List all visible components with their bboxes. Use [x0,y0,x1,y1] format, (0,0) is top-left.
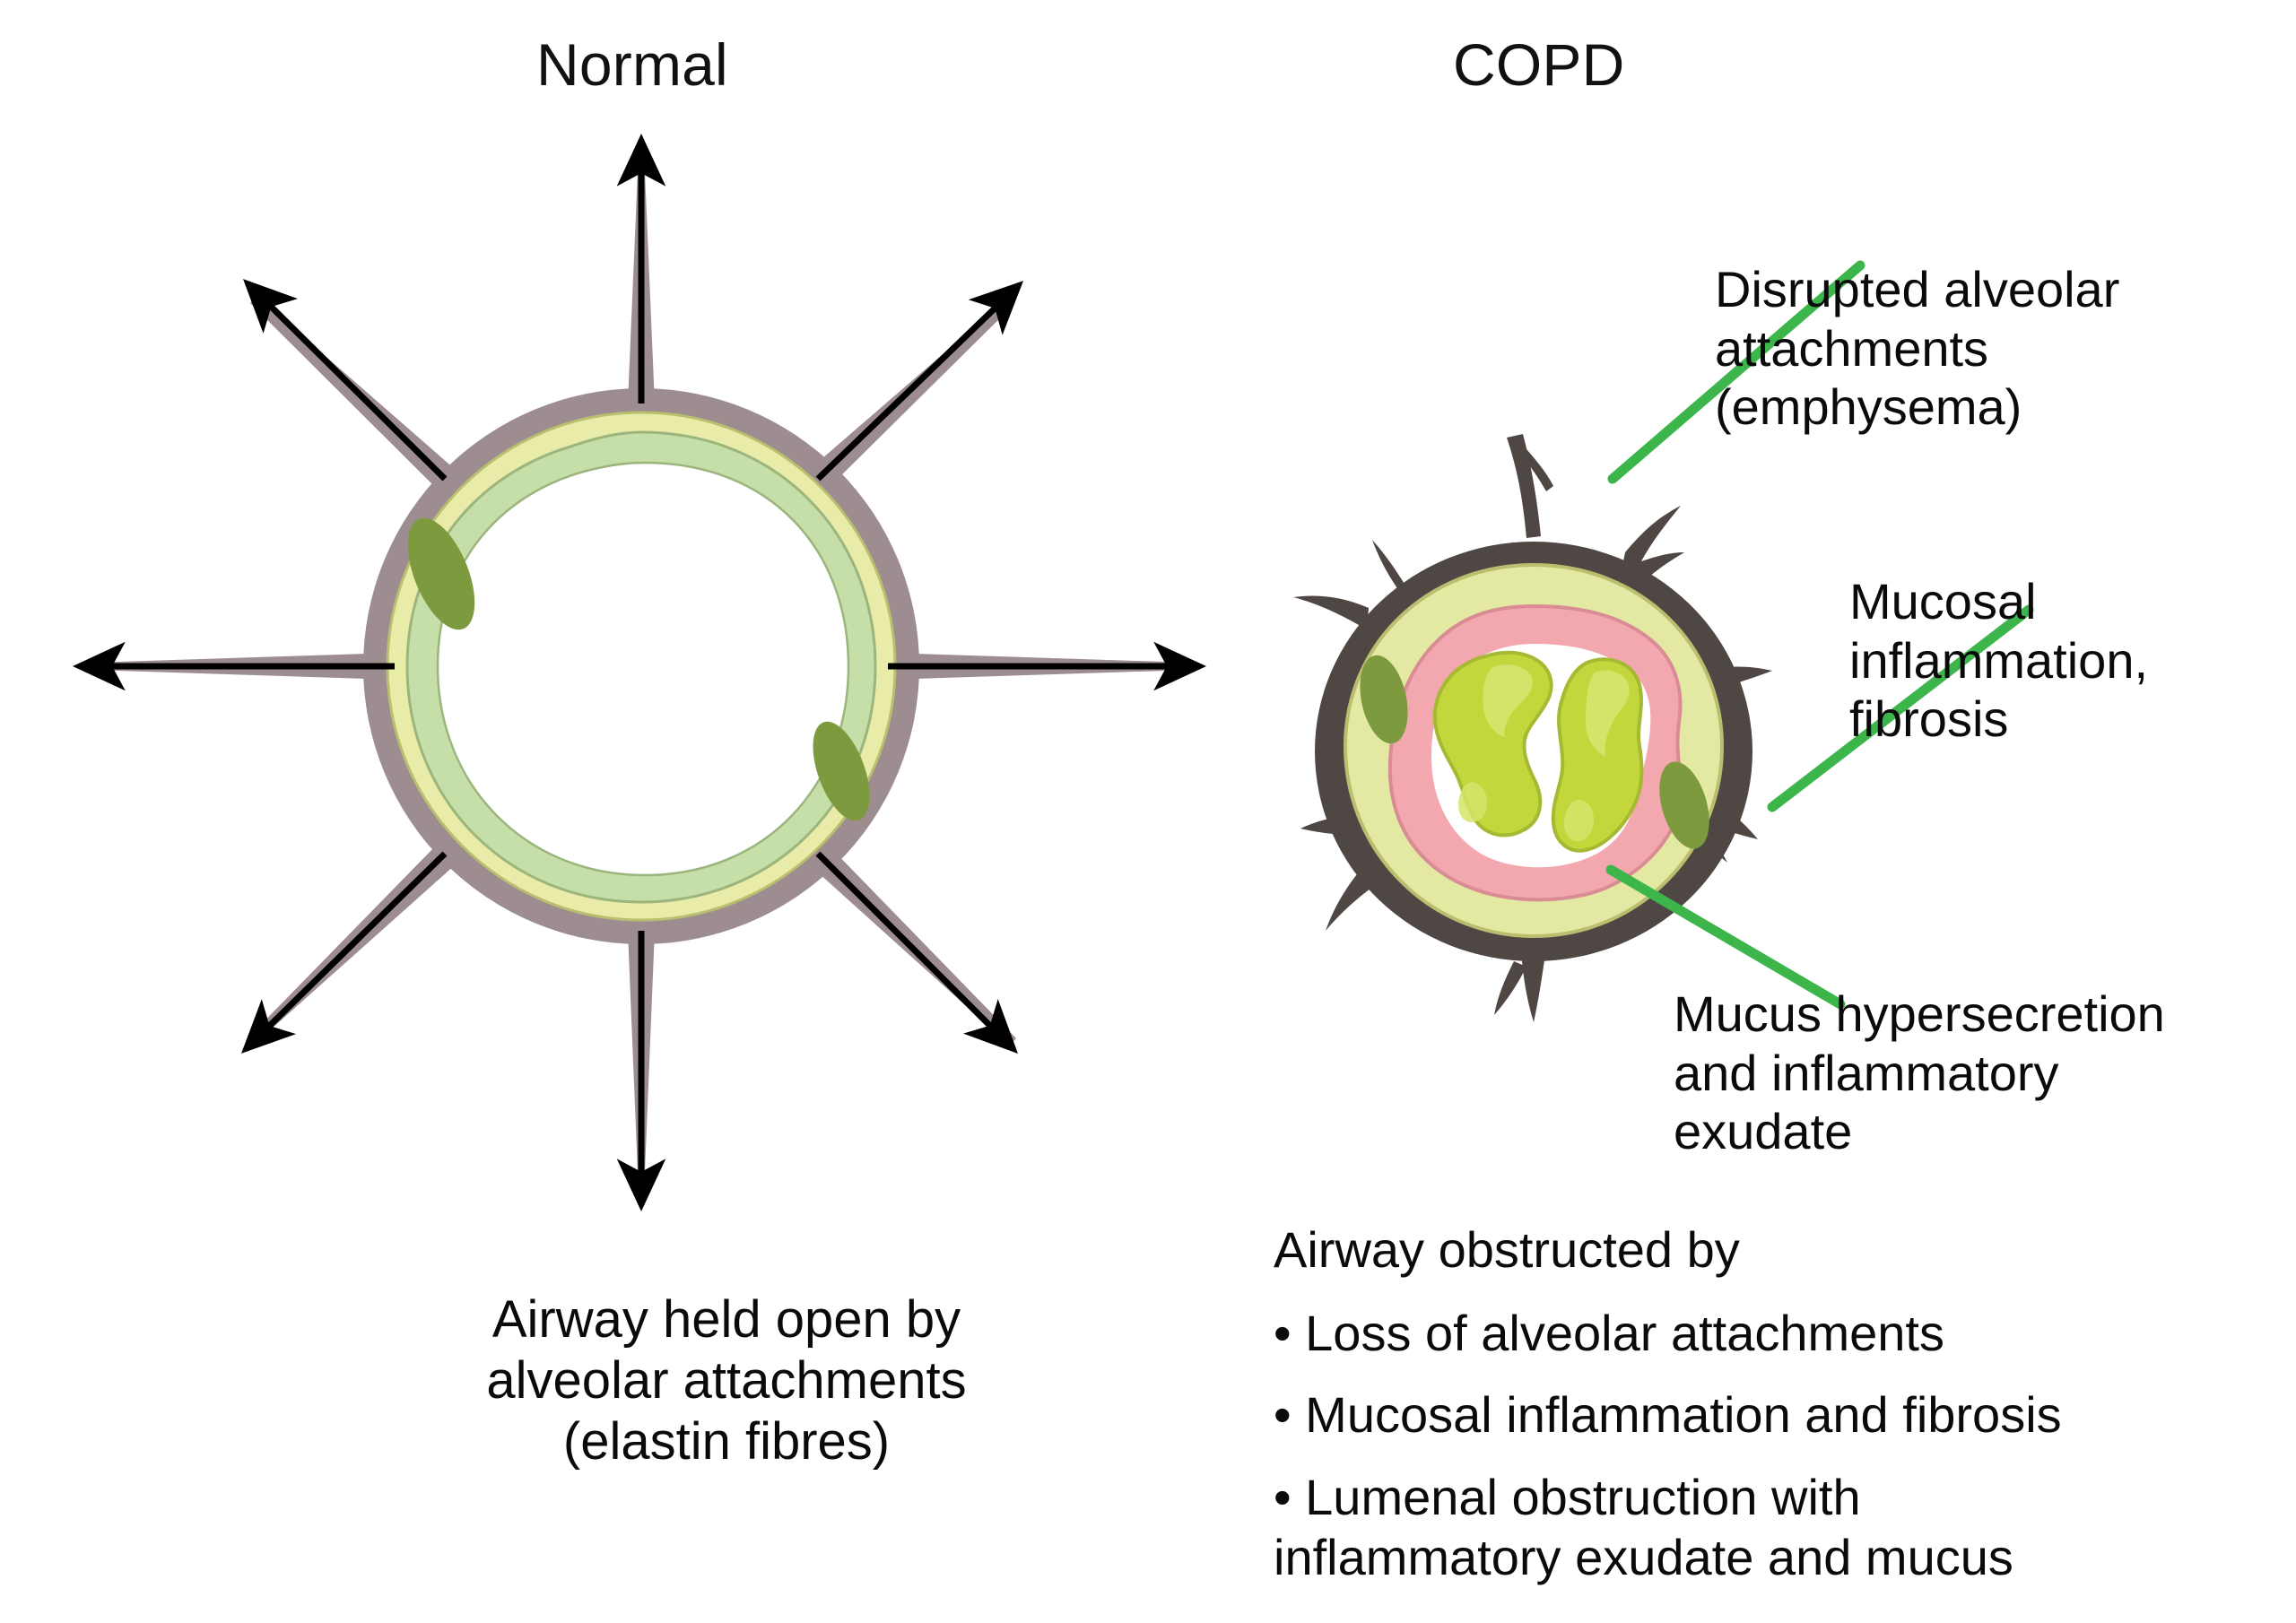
callout-line: attachments [1715,319,2119,378]
callout-mucosal-inflammation: Mucosal inflammation, fibrosis [1849,572,2148,749]
panel-title-copd: COPD [1453,34,1625,96]
obstruction-bullet: • Mucosal inflammation and fibrosis [1274,1384,2224,1445]
normal-airway-illustration [36,108,1274,1363]
callout-line: exudate [1674,1102,2165,1161]
caption-line: Airway held open by [269,1289,1184,1350]
callout-line: inflammation, [1849,631,2148,690]
obstruction-bullet-continuation: inflammatory exudate and mucus [1274,1527,2224,1587]
obstruction-bullet: • Loss of alveolar attachments [1274,1303,2224,1363]
callout-line: fibrosis [1849,690,2148,749]
callout-line: (emphysema) [1715,378,2119,437]
caption-line: alveolar attachments [269,1350,1184,1411]
callout-line: Mucus hypersecretion [1674,985,2165,1044]
airway-obstruction-list: Airway obstructed by • Loss of alveolar … [1274,1219,2224,1587]
obstruction-bullet: • Lumenal obstruction with [1274,1467,2224,1527]
caption-line: (elastin fibres) [269,1411,1184,1472]
callout-disrupted-alveolar-attachments: Disrupted alveolar attachments (emphysem… [1715,260,2119,437]
obstruction-bullet-line: • Lumenal obstruction with [1274,1469,1861,1525]
obstruction-heading: Airway obstructed by [1274,1219,2224,1280]
callout-line: Disrupted alveolar [1715,260,2119,319]
callout-line: and inflammatory [1674,1044,2165,1103]
diagram-canvas: Normal COPD Disrupted alveolar attachmen… [0,0,2296,1623]
obstruction-bullets: • Loss of alveolar attachments • Mucosal… [1274,1303,2224,1587]
panel-title-normal: Normal [536,34,728,96]
callout-line: Mucosal [1849,572,2148,631]
obstruction-bullet-line: inflammatory exudate and mucus [1274,1529,2013,1585]
caption-normal-airway: Airway held open by alveolar attachments… [269,1289,1184,1472]
normal-lumen [438,463,848,875]
callout-mucus-hypersecretion: Mucus hypersecretion and inflammatory ex… [1674,985,2165,1161]
